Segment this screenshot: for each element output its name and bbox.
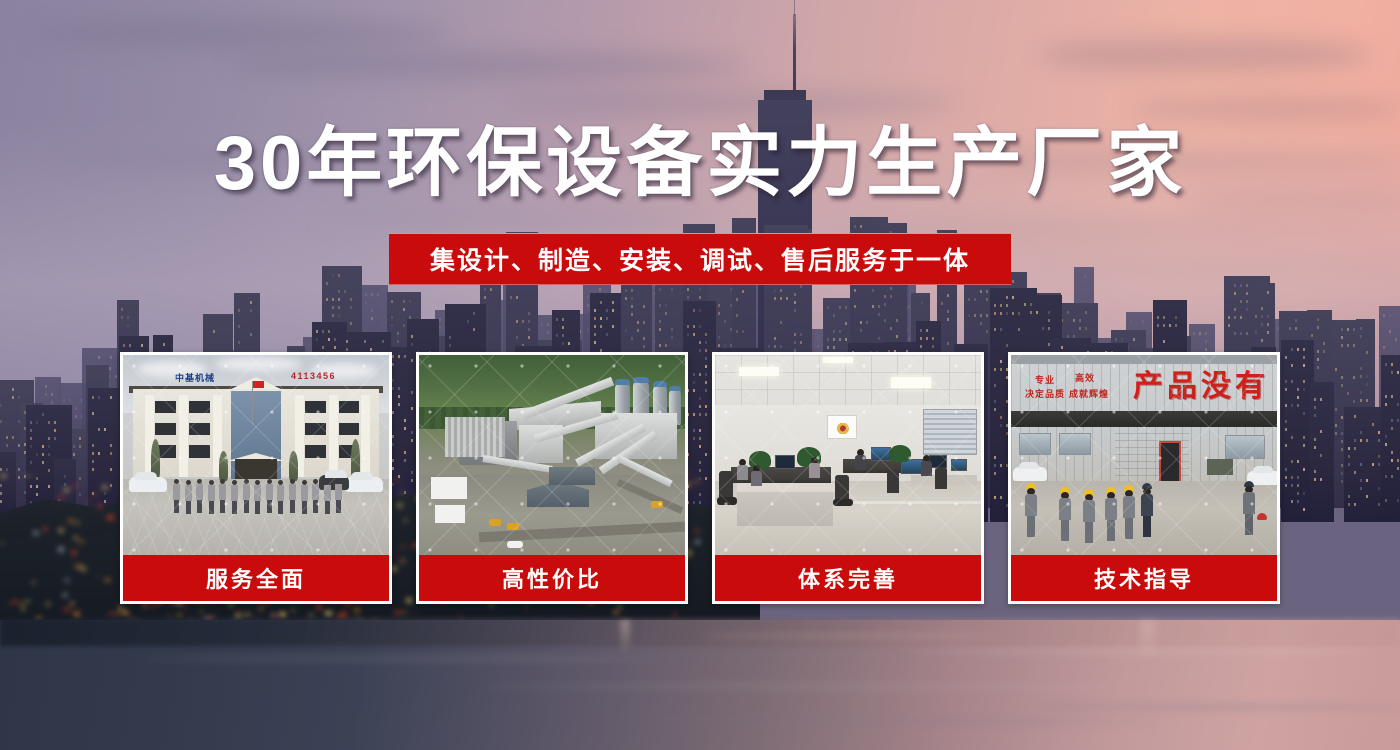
window-light [1317, 318, 1319, 321]
window-light [238, 341, 240, 344]
window-light [1297, 492, 1299, 495]
window-light [718, 336, 720, 339]
window-light [705, 333, 707, 336]
window-light [659, 328, 661, 331]
city-light [102, 485, 108, 489]
window-light [121, 308, 123, 311]
window-light [1228, 316, 1230, 319]
window-light [42, 445, 44, 448]
window-light [768, 345, 770, 348]
window-light [794, 309, 796, 312]
window-light [42, 413, 44, 416]
window-light [1285, 356, 1287, 359]
window-light [1291, 364, 1293, 367]
window-light [449, 336, 451, 339]
window-light [1163, 324, 1165, 327]
window-light [643, 305, 645, 308]
window-light [986, 298, 988, 301]
window-light [69, 399, 71, 402]
staff-person [266, 479, 273, 513]
window-light [1297, 460, 1299, 463]
window-light [1385, 499, 1387, 502]
window-light [1303, 412, 1305, 415]
window-light [1234, 284, 1236, 287]
window-light [986, 330, 988, 333]
window-light [1291, 500, 1293, 503]
window-light [1285, 476, 1287, 479]
city-light [200, 611, 203, 613]
window-light [1341, 448, 1343, 451]
window-light [92, 460, 94, 463]
window-light [794, 341, 796, 344]
window-light [1397, 403, 1399, 406]
window-light [1348, 495, 1350, 498]
window-light [800, 333, 802, 336]
window-light [1175, 324, 1177, 327]
window-light [643, 321, 645, 324]
window-light [0, 484, 2, 487]
window-light [1048, 327, 1050, 330]
window-light [1267, 315, 1269, 318]
window-light [687, 288, 689, 291]
city-light [122, 610, 129, 615]
factory-signage-small-3: 决定品质 [1025, 389, 1065, 400]
window-light [1303, 468, 1305, 471]
window-light [1397, 459, 1399, 462]
window-light [110, 452, 112, 455]
window-light [528, 312, 530, 315]
window-light [643, 345, 645, 348]
window-light [699, 296, 701, 299]
window-light [1291, 404, 1293, 407]
window-light [1360, 399, 1362, 402]
window-light [371, 293, 373, 296]
feature-card[interactable]: 体系完善 [712, 352, 984, 604]
window-light [1285, 380, 1287, 383]
window-light [1121, 338, 1123, 341]
window-light [1142, 320, 1144, 323]
window-light [79, 493, 81, 496]
window-light [1240, 332, 1242, 335]
city-light [105, 578, 110, 582]
window-light [1314, 406, 1316, 409]
window-light [1348, 455, 1350, 458]
window-light [1193, 332, 1195, 335]
window-light [141, 344, 143, 347]
window-light [947, 294, 949, 297]
window-light [522, 320, 524, 323]
window-light [1130, 320, 1132, 323]
window-light [786, 297, 788, 300]
window-light [1314, 478, 1316, 481]
window-light [687, 333, 689, 336]
window-light [1061, 346, 1063, 349]
window-light [129, 344, 131, 347]
city-light [75, 614, 78, 616]
window-light [473, 328, 475, 331]
window-light [528, 320, 530, 323]
window-light [1389, 314, 1391, 317]
window-light [1391, 371, 1393, 374]
window-light [1354, 447, 1356, 450]
window-light [1335, 424, 1337, 427]
window-light [1395, 338, 1397, 341]
window-light [1006, 296, 1008, 299]
window-light [328, 330, 330, 333]
window-light [48, 485, 50, 488]
window-light [391, 300, 393, 303]
window-light [409, 300, 411, 303]
window-light [30, 445, 32, 448]
window-light [397, 340, 399, 343]
window-light [774, 289, 776, 292]
window-light [110, 396, 112, 399]
window-light [637, 321, 639, 324]
window-light [968, 314, 970, 317]
window-light [827, 346, 829, 349]
window-light [1397, 419, 1399, 422]
feature-card[interactable]: 中基机械 4113456 服务全面 [120, 352, 392, 604]
window-light [631, 297, 633, 300]
window-light [350, 306, 352, 309]
window-light [1246, 284, 1248, 287]
window-light [1291, 484, 1293, 487]
window-light [724, 320, 726, 323]
window-light [1378, 503, 1380, 506]
window-light [1267, 331, 1269, 334]
window-light [1246, 308, 1248, 311]
window-light [780, 345, 782, 348]
window-light [1291, 348, 1293, 351]
factory-signage-big: 产品没有 [1133, 361, 1269, 405]
window-light [1341, 384, 1343, 387]
window-light [30, 461, 32, 464]
window-light [12, 436, 14, 439]
window-light [1366, 479, 1368, 482]
city-light [241, 609, 244, 611]
window-light [1341, 464, 1343, 467]
window-light [36, 421, 38, 424]
window-light [1261, 339, 1263, 342]
window-light [1205, 348, 1207, 351]
window-light [1385, 443, 1387, 446]
window-light [0, 500, 2, 503]
window-light [643, 337, 645, 340]
window-light [403, 324, 405, 327]
city-light [27, 475, 29, 477]
window-light [411, 335, 413, 338]
window-light [1391, 451, 1393, 454]
window-light [699, 288, 701, 291]
promotional-banner: 30年环保设备实力生产厂家 集设计、制造、安装、调试、售后服务于一体 [0, 0, 1400, 750]
city-light [169, 604, 173, 607]
window-light [986, 314, 988, 317]
window-light [980, 322, 982, 325]
window-light [860, 321, 862, 324]
window-light [391, 316, 393, 319]
window-light [665, 344, 667, 347]
window-light [12, 396, 14, 399]
window-light [1360, 487, 1362, 490]
window-light [1228, 324, 1230, 327]
window-light [547, 323, 549, 326]
window-light [12, 388, 14, 391]
staff-person [231, 480, 238, 514]
window-light [1360, 375, 1362, 378]
window-light [1320, 478, 1322, 481]
window-light [612, 301, 614, 304]
window-light [736, 298, 738, 301]
window-light [1006, 344, 1008, 347]
window-light [833, 346, 835, 349]
window-light [1024, 303, 1026, 306]
staff-person [289, 479, 296, 513]
window-light [528, 336, 530, 339]
window-light [872, 289, 874, 292]
window-light [1000, 304, 1002, 307]
window-light [163, 343, 165, 346]
window-light [411, 343, 413, 346]
window-light [1291, 476, 1293, 479]
window-light [1234, 332, 1236, 335]
window-light [1366, 439, 1368, 442]
window-light [1383, 346, 1385, 349]
window-light [1335, 368, 1337, 371]
window-light [699, 325, 701, 328]
window-light [45, 385, 47, 388]
window-light [606, 317, 608, 320]
window-light [1303, 444, 1305, 447]
staff-person [243, 479, 250, 513]
window-light [1234, 308, 1236, 311]
building [1281, 340, 1314, 522]
window-light [1303, 508, 1305, 511]
window-light [1314, 414, 1316, 417]
window-light [625, 329, 627, 332]
window-light [1157, 324, 1159, 327]
window-light [1285, 484, 1287, 487]
city-light [33, 531, 38, 535]
window-light [467, 320, 469, 323]
window-light [1360, 479, 1362, 482]
city-light [325, 611, 331, 615]
window-light [391, 324, 393, 327]
window-light [1297, 484, 1299, 487]
window-light [594, 317, 596, 320]
water-reflection [1140, 620, 1156, 662]
window-light [370, 348, 372, 351]
window-light [687, 325, 689, 328]
window-light [1163, 340, 1165, 343]
window-light [845, 306, 847, 309]
window-light [1347, 392, 1349, 395]
window-light [854, 225, 856, 228]
window-light [403, 300, 405, 303]
window-light [48, 437, 50, 440]
window-light [98, 396, 100, 399]
window-light [371, 309, 373, 312]
building [1344, 407, 1387, 522]
city-light [142, 604, 148, 608]
window-light [1267, 323, 1269, 326]
window-light [490, 288, 492, 291]
window-light [1079, 327, 1081, 330]
window-light [872, 305, 874, 308]
window-light [932, 345, 934, 348]
window-light [1291, 460, 1293, 463]
city-light [107, 515, 114, 520]
card-label: 服务全面 [123, 555, 389, 601]
window-light [127, 316, 129, 319]
window-light [98, 356, 100, 359]
staff-person [277, 480, 284, 514]
window-light [896, 319, 898, 322]
window-light [827, 338, 829, 341]
window-light [338, 298, 340, 301]
window-light [316, 330, 318, 333]
window-light [1366, 495, 1368, 498]
city-light [259, 606, 263, 609]
window-light [110, 468, 112, 471]
window-light [599, 288, 601, 291]
window-light [377, 293, 379, 296]
window-light [908, 337, 910, 340]
window-light [213, 330, 215, 333]
window-light [1084, 275, 1086, 278]
window-light [562, 342, 564, 345]
window-light [926, 329, 928, 332]
card-label: 技术指导 [1011, 555, 1277, 601]
window-light [98, 452, 100, 455]
window-light [92, 468, 94, 471]
window-light [1385, 435, 1387, 438]
window-light [250, 333, 252, 336]
window-light [884, 319, 886, 322]
window-light [1240, 284, 1242, 287]
city-light [75, 521, 80, 525]
window-light [73, 453, 75, 456]
window-light [1085, 311, 1087, 314]
window-light [63, 399, 65, 402]
window-light [1397, 371, 1399, 374]
window-light [1354, 503, 1356, 506]
window-light [332, 298, 334, 301]
window-light [594, 309, 596, 312]
window-light [1385, 403, 1387, 406]
window-light [326, 282, 328, 285]
window-light [718, 312, 720, 315]
window-light [1036, 311, 1038, 314]
window-light [98, 428, 100, 431]
window-light [947, 318, 949, 321]
window-light [556, 318, 558, 321]
feature-card-row: 中基机械 4113456 服务全面 [120, 352, 1280, 604]
window-light [6, 444, 8, 447]
window-light [827, 306, 829, 309]
city-light [73, 484, 77, 487]
window-light [350, 298, 352, 301]
water-far-edge [0, 618, 1400, 646]
window-light [51, 401, 53, 404]
window-light [332, 306, 334, 309]
window-light [1366, 383, 1368, 386]
window-light [1391, 419, 1393, 422]
window-light [890, 295, 892, 298]
window-light [594, 341, 596, 344]
window-light [346, 340, 348, 343]
water-reflection [620, 620, 630, 654]
window-light [693, 333, 695, 336]
card-label: 高性价比 [419, 555, 685, 601]
window-light [1199, 332, 1201, 335]
window-light [332, 274, 334, 277]
window-light [1000, 312, 1002, 315]
window-light [1341, 328, 1343, 331]
window-light [382, 340, 384, 343]
window-light [986, 290, 988, 293]
window-light [1234, 316, 1236, 319]
window-light [110, 444, 112, 447]
window-light [994, 304, 996, 307]
feature-card[interactable]: 产品没有 专业 高效 决定品质 成就辉煌 [1008, 352, 1280, 604]
window-light [631, 289, 633, 292]
window-light [36, 477, 38, 480]
window-light [1030, 311, 1032, 314]
window-light [980, 314, 982, 317]
water-ripple [140, 656, 660, 662]
tower-spire-tip [794, 0, 795, 16]
window-light [51, 393, 53, 396]
window-light [1360, 431, 1362, 434]
window-light [1366, 399, 1368, 402]
window-light [1378, 487, 1380, 490]
window-light [1012, 280, 1014, 283]
window-light [817, 345, 819, 348]
window-light [1246, 300, 1248, 303]
window-light [1169, 324, 1171, 327]
window-light [833, 314, 835, 317]
window-light [1048, 311, 1050, 314]
window-light [1255, 331, 1257, 334]
city-light [12, 600, 17, 604]
city-light [20, 602, 23, 604]
window-light [54, 437, 56, 440]
factory-signage-small-2: 高效 [1075, 373, 1095, 384]
window-light [92, 444, 94, 447]
window-light [1372, 463, 1374, 466]
window-light [238, 325, 240, 328]
window-light [0, 420, 2, 423]
window-light [1311, 334, 1313, 337]
window-light [42, 461, 44, 464]
window-light [121, 316, 123, 319]
window-light [774, 345, 776, 348]
window-light [1383, 314, 1385, 317]
window-light [104, 492, 106, 495]
window-light [316, 338, 318, 341]
staff-person [196, 479, 203, 513]
window-light [1391, 427, 1393, 430]
window-light [631, 337, 633, 340]
window-light [1006, 304, 1008, 307]
window-light [528, 328, 530, 331]
window-light [780, 297, 782, 300]
window-light [884, 295, 886, 298]
feature-card[interactable]: 高性价比 [416, 352, 688, 604]
window-light [1385, 475, 1387, 478]
window-light [890, 287, 892, 290]
subtitle-text: 集设计、制造、安装、调试、售后服务于一体 [430, 241, 970, 277]
